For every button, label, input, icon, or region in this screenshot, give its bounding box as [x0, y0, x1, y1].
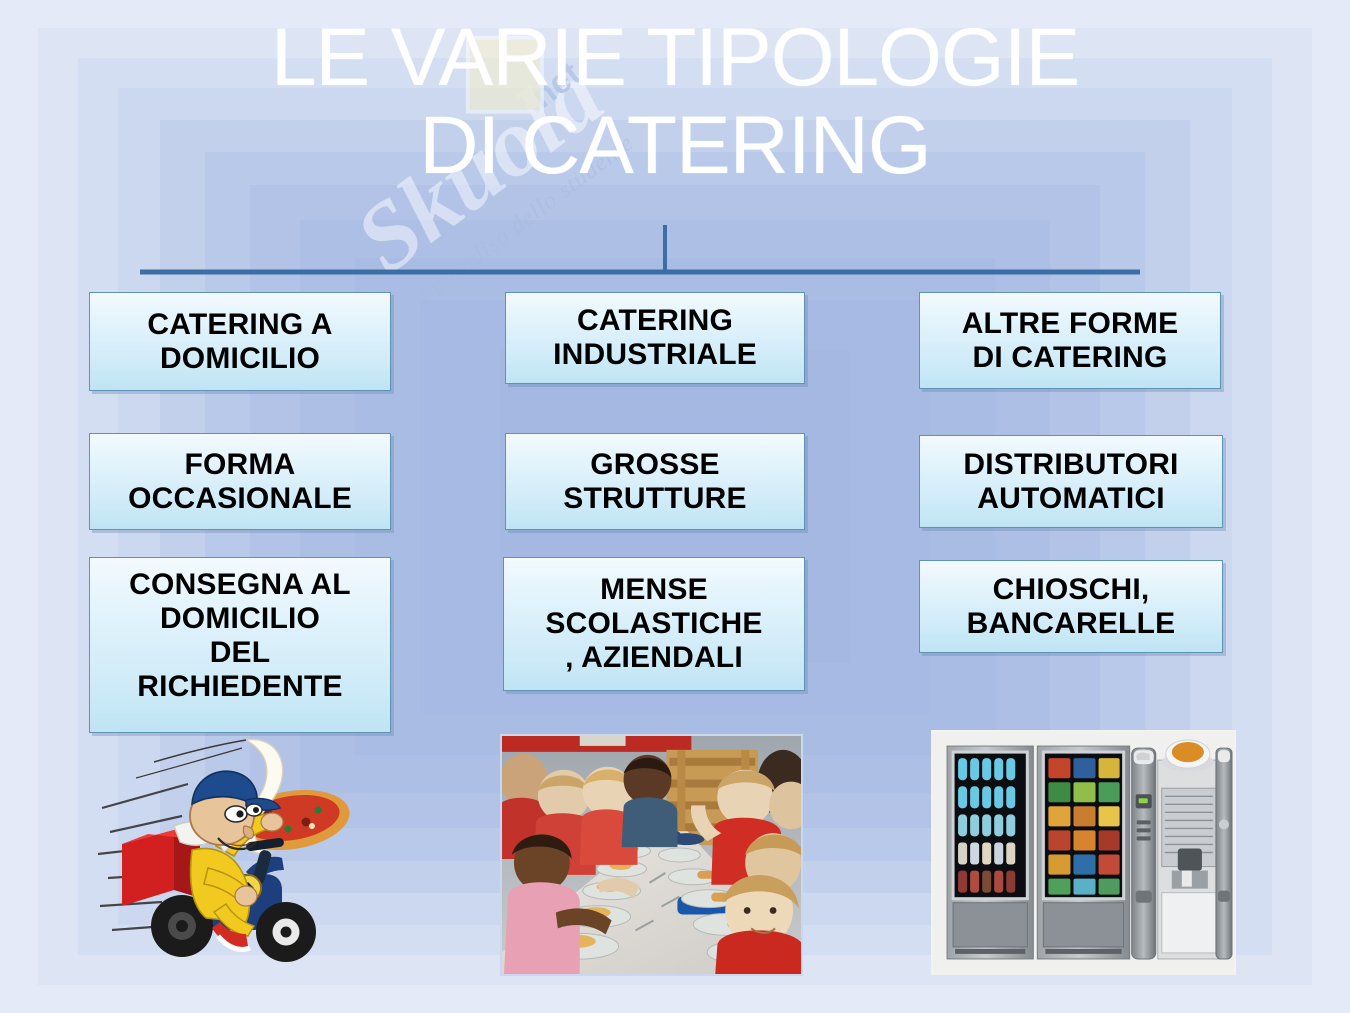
connector-lines — [140, 225, 1140, 285]
image-vending-machines — [931, 730, 1236, 975]
box-label: CONSEGNA AL DOMICILIO DEL RICHIEDENTE — [90, 568, 390, 704]
box-label: GROSSE STRUTTURE — [506, 448, 804, 516]
box-chioschi-bancarelle[interactable]: CHIOSCHI, BANCARELLE — [919, 560, 1223, 653]
box-label: MENSE SCOLASTICHE , AZIENDALI — [504, 573, 804, 675]
box-label: CHIOSCHI, BANCARELLE — [920, 573, 1222, 641]
box-label: ALTRE FORME DI CATERING — [920, 307, 1220, 375]
image-school-canteen — [500, 734, 803, 976]
box-mense-scolastiche-aziendali[interactable]: MENSE SCOLASTICHE , AZIENDALI — [503, 557, 805, 691]
box-label: FORMA OCCASIONALE — [90, 448, 390, 516]
title-line-2: DI CATERING — [60, 102, 1290, 190]
box-label: CATERING A DOMICILIO — [90, 308, 390, 376]
box-catering-industriale[interactable]: CATERING INDUSTRIALE — [505, 292, 805, 384]
page-title: LE VARIE TIPOLOGIE DI CATERING — [60, 14, 1290, 189]
box-catering-a-domicilio[interactable]: CATERING A DOMICILIO — [89, 292, 391, 391]
image-pizza-delivery-scooter — [96, 722, 386, 980]
slide-canvas: Skuola .net il paradiso dello studente L… — [0, 0, 1350, 1013]
title-line-1: LE VARIE TIPOLOGIE — [271, 12, 1079, 103]
box-label: DISTRIBUTORI AUTOMATICI — [920, 448, 1222, 516]
box-distributori-automatici[interactable]: DISTRIBUTORI AUTOMATICI — [919, 435, 1223, 528]
box-grosse-strutture[interactable]: GROSSE STRUTTURE — [505, 433, 805, 530]
box-forma-occasionale[interactable]: FORMA OCCASIONALE — [89, 433, 391, 530]
box-altre-forme-di-catering[interactable]: ALTRE FORME DI CATERING — [919, 292, 1221, 389]
box-consegna-al-domicilio-del-richiedente[interactable]: CONSEGNA AL DOMICILIO DEL RICHIEDENTE — [89, 557, 391, 733]
box-label: CATERING INDUSTRIALE — [506, 304, 804, 372]
